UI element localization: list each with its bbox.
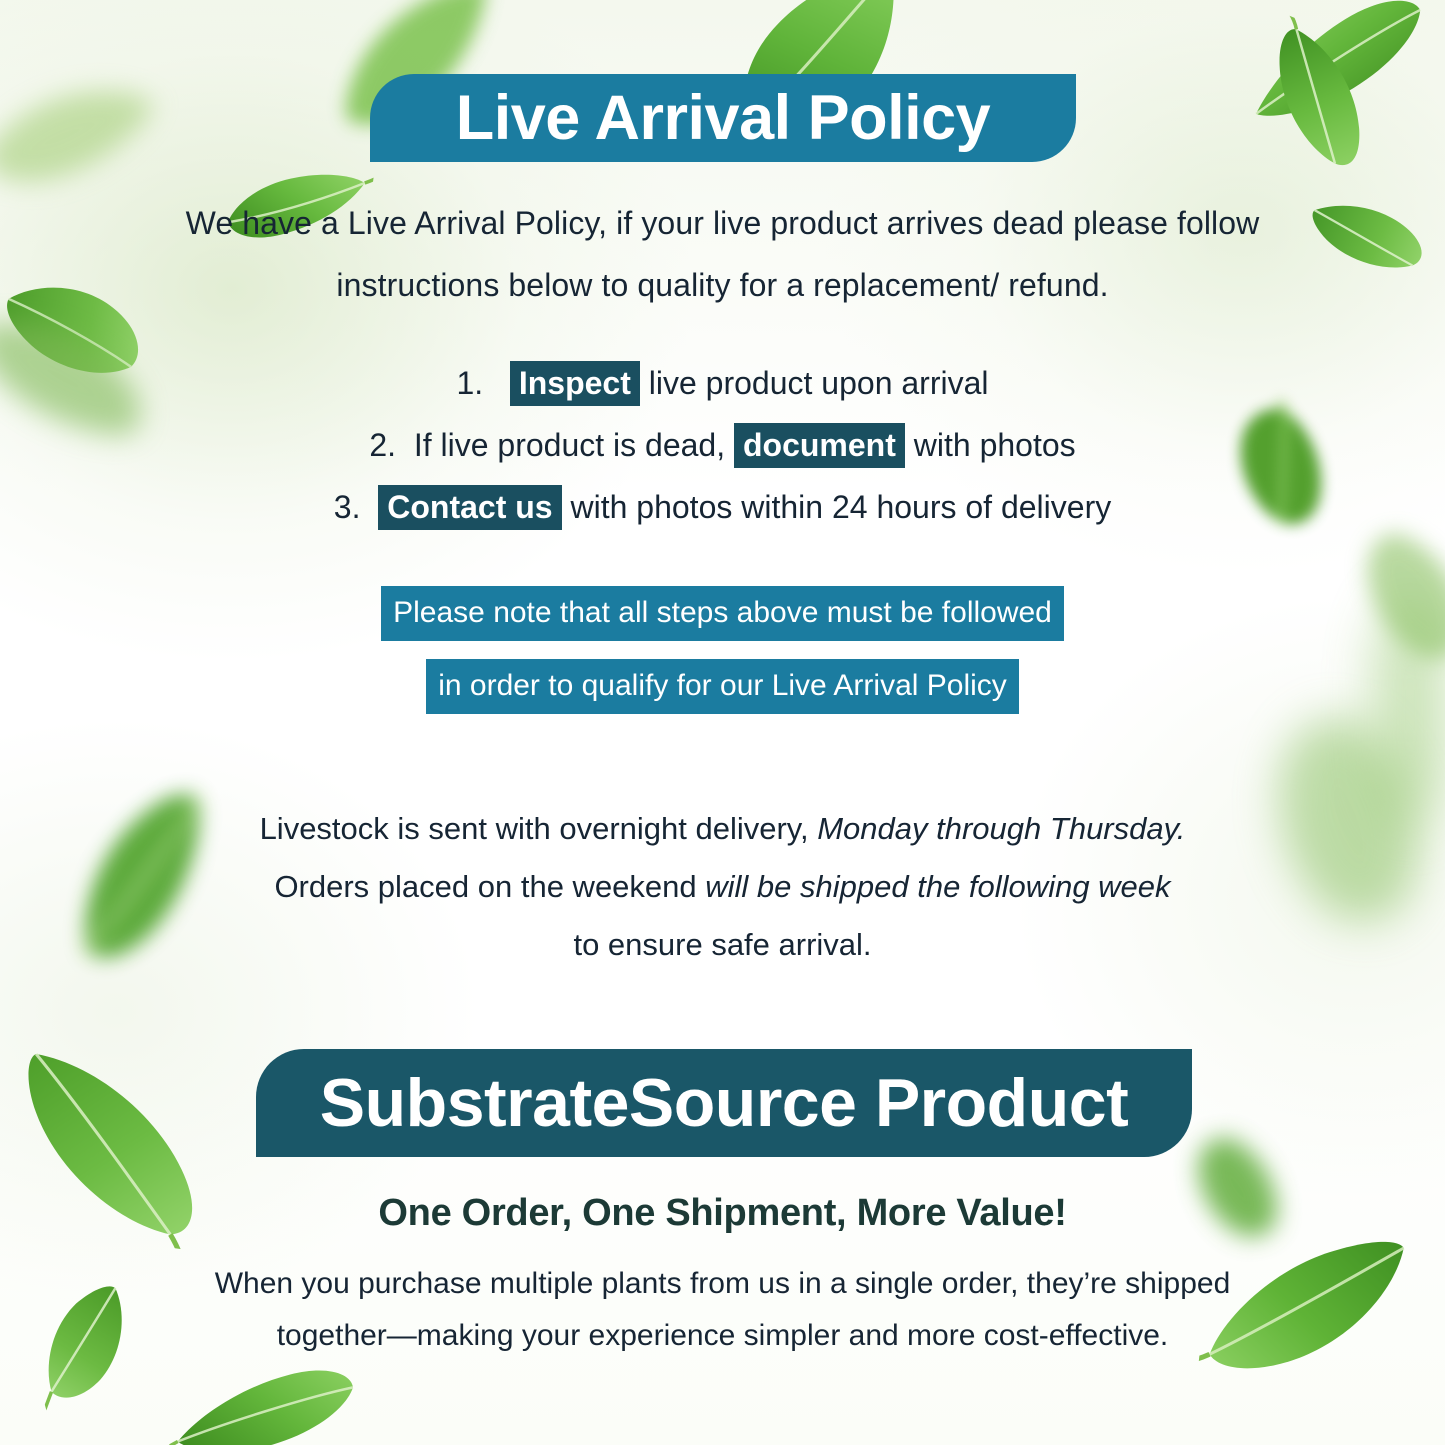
- product-subtitle: One Order, One Shipment, More Value!: [0, 1192, 1445, 1235]
- policy-note-box: Please note that all steps above must be…: [0, 586, 1445, 732]
- step-highlight-contact-us[interactable]: Contact us: [378, 485, 561, 530]
- intro-paragraph: We have a Live Arrival Policy, if your l…: [0, 192, 1445, 316]
- livestock-line-1-plain: Livestock is sent with overnight deliver…: [260, 811, 818, 846]
- step-number: 2.: [369, 427, 396, 463]
- list-item: 2. If live product is dead, document wit…: [0, 414, 1445, 476]
- livestock-line-1: Livestock is sent with overnight deliver…: [0, 800, 1445, 858]
- product-closing-paragraph: When you purchase multiple plants from u…: [0, 1258, 1445, 1362]
- livestock-line-2-italic: will be shipped the following week: [705, 869, 1170, 904]
- intro-line-1: We have a Live Arrival Policy, if your l…: [0, 192, 1445, 254]
- policy-graphic: Live Arrival Policy We have a Live Arriv…: [0, 0, 1445, 1445]
- step-highlight-document[interactable]: document: [734, 423, 905, 468]
- note-line-2: in order to qualify for our Live Arrival…: [426, 659, 1019, 714]
- substratesource-product-banner: SubstrateSource Product: [256, 1049, 1192, 1157]
- note-line-1: Please note that all steps above must be…: [381, 586, 1064, 641]
- intro-line-2: instructions below to quality for a repl…: [0, 254, 1445, 316]
- step-number: 1.: [456, 365, 483, 401]
- policy-steps-list: 1. Inspect live product upon arrival 2. …: [0, 352, 1445, 538]
- livestock-line-2-plain: Orders placed on the weekend: [274, 869, 705, 904]
- livestock-shipping-paragraph: Livestock is sent with overnight deliver…: [0, 800, 1445, 974]
- live-arrival-policy-banner: Live Arrival Policy: [370, 74, 1076, 162]
- step-post-text: with photos: [905, 427, 1076, 463]
- livestock-line-3: to ensure safe arrival.: [0, 916, 1445, 974]
- step-pre-text: If live product is dead,: [414, 427, 734, 463]
- list-item: 3. Contact us with photos within 24 hour…: [0, 476, 1445, 538]
- closing-line-1: When you purchase multiple plants from u…: [0, 1258, 1445, 1310]
- step-post-text: with photos within 24 hours of delivery: [562, 489, 1112, 525]
- step-highlight-inspect[interactable]: Inspect: [510, 361, 640, 406]
- livestock-line-1-italic: Monday through Thursday.: [817, 811, 1185, 846]
- closing-line-2: together—making your experience simpler …: [0, 1310, 1445, 1362]
- step-number: 3.: [334, 489, 361, 525]
- list-item: 1. Inspect live product upon arrival: [0, 352, 1445, 414]
- step-post-text: live product upon arrival: [640, 365, 989, 401]
- livestock-line-2: Orders placed on the weekend will be shi…: [0, 858, 1445, 916]
